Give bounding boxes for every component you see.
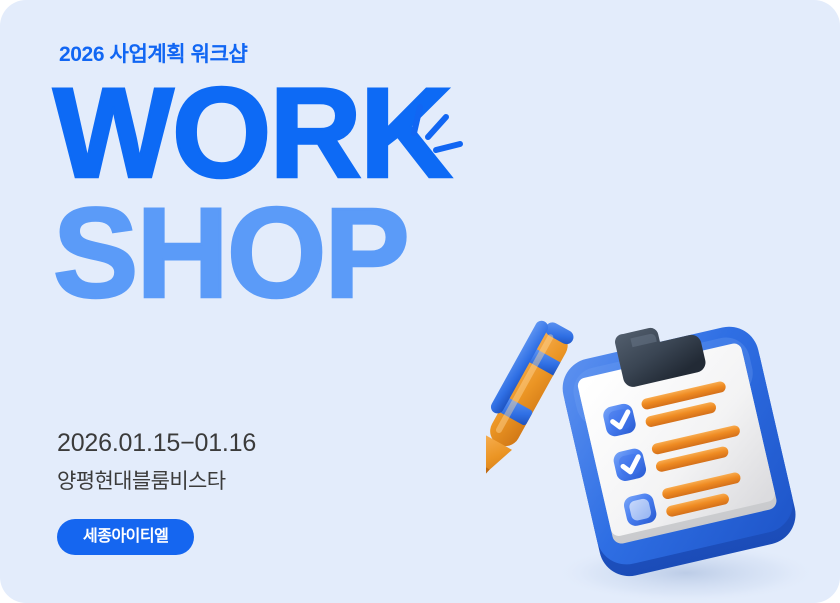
clipboard-checklist-icon	[486, 287, 840, 603]
hero-title-line1: WORK	[53, 79, 577, 189]
hero-text-block: 2026 사업계획 워크샵 WORK SHOP	[57, 44, 577, 309]
workshop-banner-card: 2026 사업계획 워크샵 WORK SHOP 2026.01.15−01.16…	[0, 0, 840, 603]
organizer-badge[interactable]: 세종아이티엘	[57, 519, 194, 556]
hero-title-line2: SHOP	[53, 199, 577, 309]
event-venue: 양평현대블룸비스타	[57, 468, 256, 495]
event-date: 2026.01.15−01.16	[57, 428, 256, 459]
event-info-block: 2026.01.15−01.16 양평현대블룸비스타 세종아이티엘	[57, 428, 256, 555]
